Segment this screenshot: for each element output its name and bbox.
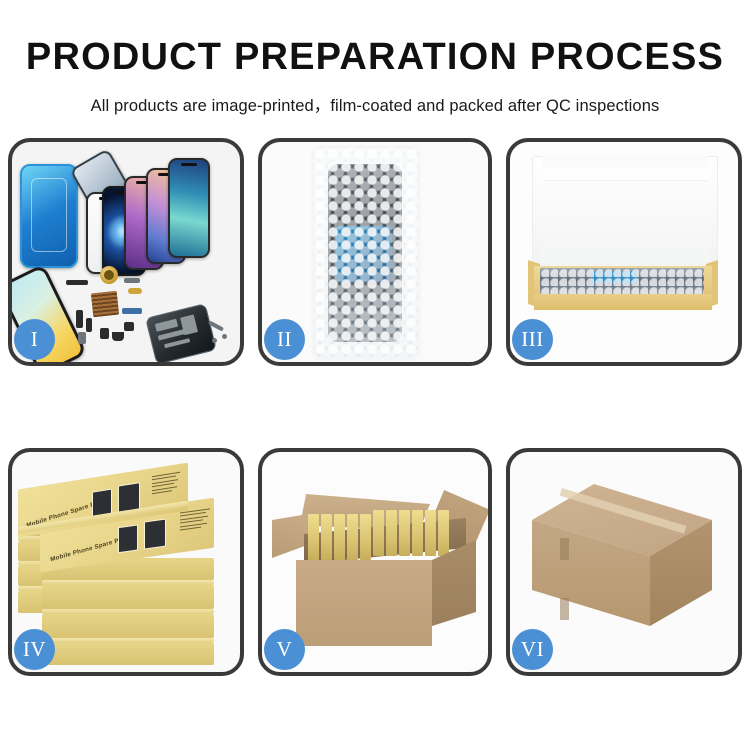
box-window-right	[144, 519, 166, 550]
logic-board-part	[145, 303, 217, 365]
process-steps-grid: I II	[0, 0, 750, 750]
carton-flap-left	[272, 514, 308, 558]
panel-step-5[interactable]: V	[258, 448, 492, 676]
sim-tray-part	[78, 332, 86, 344]
carton-front-face	[296, 560, 432, 646]
step-badge-5: V	[264, 629, 305, 670]
camera-module-part	[100, 328, 109, 339]
flex-cable-part	[66, 280, 88, 285]
bubble-texture	[540, 268, 704, 294]
gold-connector-part	[128, 288, 142, 294]
stacked-box	[42, 614, 214, 638]
step-badge-1: I	[14, 319, 55, 360]
panel-step-4[interactable]: Mobile Phone Spare Parts Mobile Phone Sp…	[8, 448, 244, 676]
small-flex-part	[86, 318, 92, 332]
box-front-face	[534, 294, 712, 310]
ic-chip-part	[124, 322, 134, 331]
step-badge-4: IV	[14, 629, 55, 670]
speaker-coil-part	[100, 266, 118, 284]
box-spec-lines	[180, 508, 210, 533]
foam-lining	[540, 196, 710, 270]
button-flex-part	[124, 278, 140, 283]
bubble-wrap-bag	[314, 148, 418, 358]
panel-step-1[interactable]: I	[8, 138, 244, 366]
step-badge-6: VI	[512, 629, 553, 670]
panel-step-3[interactable]: III	[506, 138, 742, 366]
phone-screen-teal	[168, 158, 210, 258]
panel-step-2[interactable]: II	[258, 138, 492, 366]
step-badge-3: III	[512, 319, 553, 360]
adhesive-screen-part	[20, 164, 78, 268]
notch-icon	[181, 163, 197, 166]
screw-part	[212, 338, 217, 343]
product-preparation-page: PRODUCT PREPARATION PROCESS All products…	[0, 0, 750, 750]
blue-flex-part	[122, 308, 142, 314]
bubble-texture	[314, 148, 418, 358]
packed-retail-boxes	[308, 514, 460, 560]
connector-grid-part	[91, 291, 119, 318]
step-badge-2: II	[264, 319, 305, 360]
vibrator-part	[112, 332, 124, 341]
box-window-left	[118, 524, 138, 553]
stacked-box	[42, 585, 214, 609]
box-spec-lines	[152, 472, 180, 497]
screw-part	[222, 334, 227, 339]
stacked-box	[42, 643, 214, 665]
small-flex-part	[76, 310, 83, 328]
carton-seam-top	[560, 538, 569, 560]
packed-product	[540, 268, 704, 294]
carton-seam-bottom	[560, 598, 569, 620]
panel-step-6[interactable]: VI	[506, 448, 742, 676]
